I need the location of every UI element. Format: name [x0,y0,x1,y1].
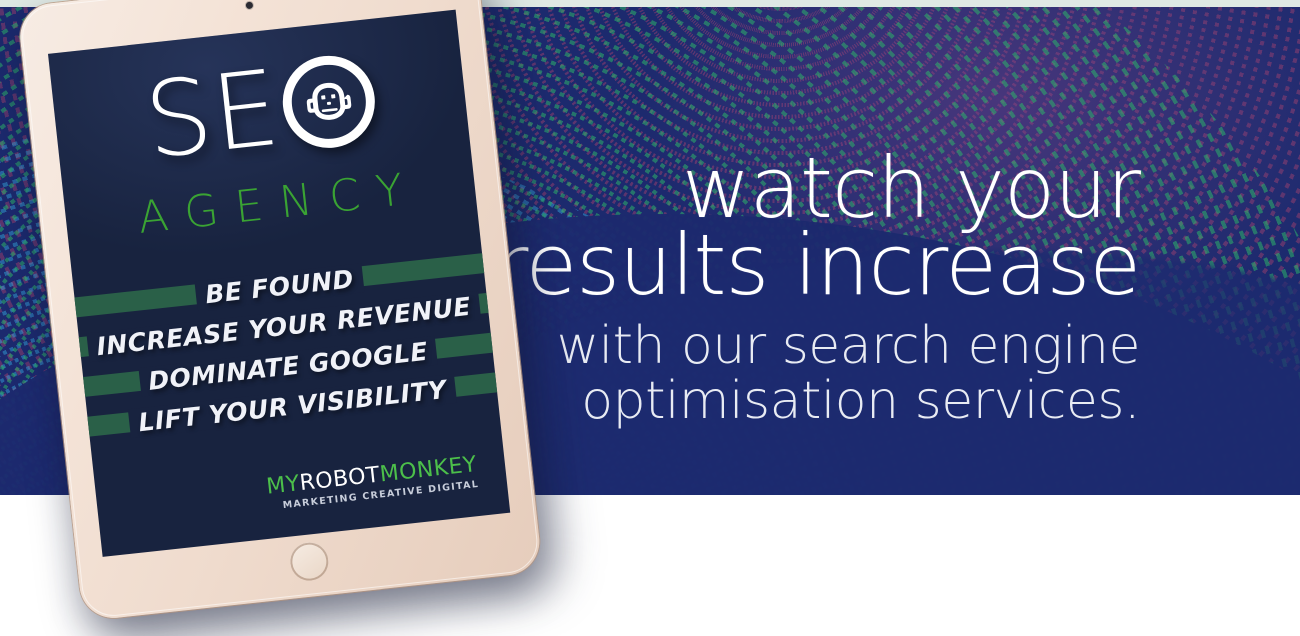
home-button-icon[interactable] [288,541,330,583]
hero-banner: watch your results increase with our sea… [0,0,1300,636]
seo-lockup: SE [51,35,470,183]
brand-part-my: MY [265,471,301,499]
camera-dot-icon [245,2,253,10]
seo-text: SE [140,56,284,174]
subline-line-1: with our search engine [557,316,1140,376]
poster-bullet-list: BE FOUND INCREASE YOUR REVENUE DOMINATE … [64,243,509,449]
robot-monkey-badge-icon [278,51,379,152]
tablet-device: SE [17,0,588,636]
tablet-screen: SE [48,10,510,557]
tablet-frame: SE [17,0,543,621]
brand-lockup: MYROBOTMONKEY MARKETING CREATIVE DIGITAL [265,454,479,513]
bullet-bar-left [65,282,216,318]
bullet-bar-right [343,252,494,288]
